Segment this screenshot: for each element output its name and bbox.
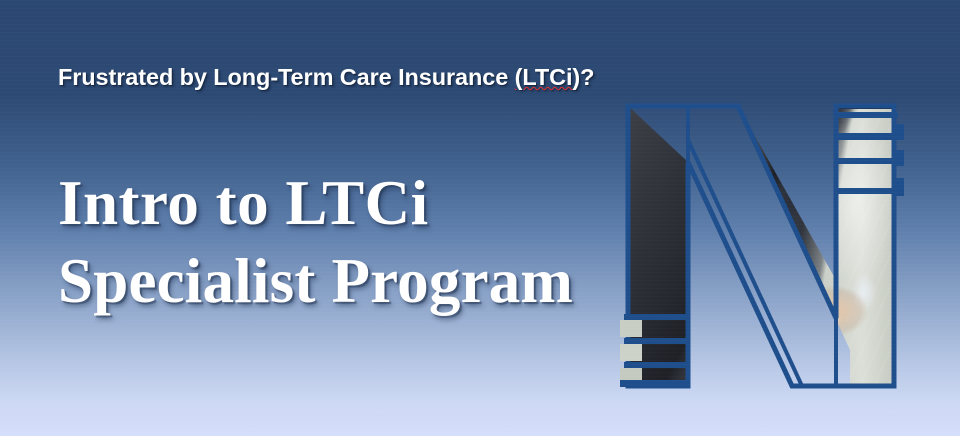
headline-prefix: Frustrated by Long-Term Care Insurance [58, 64, 515, 90]
headline-misspelled-word: (LTCi [515, 64, 573, 90]
slide-headline: Frustrated by Long-Term Care Insurance (… [58, 64, 594, 91]
handshake-photo [628, 106, 894, 386]
slide-canvas: Frustrated by Long-Term Care Insurance (… [0, 0, 960, 436]
slide-title-line-1: Intro to LTCi [58, 164, 638, 242]
monogram-inner [620, 100, 904, 392]
slide-title-line-2: Specialist Program [58, 242, 638, 320]
slide-title-block: Intro to LTCi Specialist Program [58, 164, 638, 320]
handshake-photo-clip [620, 100, 904, 392]
letter-n-monogram-graphic [620, 100, 904, 392]
headline-suffix: )? [572, 64, 594, 90]
handshake-photo-image [628, 106, 894, 386]
